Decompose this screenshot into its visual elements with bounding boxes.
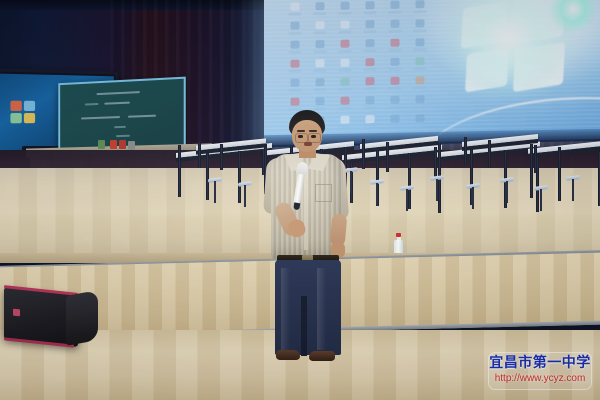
stage-monitor-speaker <box>4 285 100 347</box>
blackboard-writing <box>97 91 140 95</box>
mouth <box>304 142 312 146</box>
trouser-highlight-right <box>317 268 326 350</box>
desktop-icon <box>282 38 307 57</box>
desktop-icon <box>332 37 357 56</box>
bench-jar <box>128 141 135 150</box>
shirt-pocket <box>315 184 332 202</box>
desktop-icon <box>282 19 307 38</box>
bench-jar <box>98 140 105 149</box>
desktop-icon <box>382 18 407 37</box>
watermark-url: http://www.ycyz.com <box>489 372 591 385</box>
desktop-icon <box>282 0 307 19</box>
desktop-icon <box>307 0 332 19</box>
desktop-icon <box>332 75 357 94</box>
speaker-grille <box>66 290 98 346</box>
projector-glare <box>434 0 584 98</box>
trouser-highlight-left <box>281 268 290 350</box>
desktop-icon <box>357 56 382 75</box>
school-watermark: 宜昌市第一中学 http://www.ycyz.com <box>488 352 592 390</box>
blackboard-writing <box>104 102 130 105</box>
windows-flag-icon <box>10 101 37 126</box>
desktop-icon <box>332 18 357 37</box>
desktop-icon <box>382 0 407 18</box>
desktop-icon <box>407 93 432 112</box>
face <box>292 120 322 152</box>
desktop-icon <box>407 36 432 55</box>
bench-jar <box>119 140 126 149</box>
desktop-icon <box>307 57 332 76</box>
bench-jar <box>110 140 117 149</box>
desktop-icon <box>332 0 357 19</box>
blackboard-writing <box>81 116 120 119</box>
desktop-icon <box>357 75 382 94</box>
desktop-icon <box>307 38 332 57</box>
desktop-icon <box>357 37 382 56</box>
blackboard-writing <box>116 135 130 137</box>
desktop-icon <box>382 37 407 56</box>
speaker <box>265 110 360 365</box>
blackboard-writing <box>85 103 99 105</box>
desktop-icon <box>407 55 432 74</box>
auditorium-photo: 宜昌市第一中学 http://www.ycyz.com <box>0 0 600 400</box>
desktop-icon <box>282 57 307 76</box>
blackboard-writing <box>128 115 156 118</box>
shoe-right <box>309 351 335 361</box>
desktop-icon <box>407 0 432 18</box>
desktop-icon <box>307 19 332 38</box>
desktop-icon <box>357 0 382 18</box>
desktop-icon <box>357 18 382 37</box>
desktop-icon <box>282 76 307 95</box>
trouser-inseam <box>301 296 307 356</box>
desktop-icon <box>357 113 382 132</box>
desktop-icon <box>332 56 357 75</box>
desktop-icon <box>307 76 332 95</box>
shoe-left <box>276 350 300 360</box>
desktop-icon <box>382 94 407 113</box>
desktop-icon <box>357 94 382 113</box>
speaker-badge <box>13 309 20 317</box>
desktop-icon <box>382 56 407 75</box>
desktop-icon <box>382 113 407 132</box>
microphone-tip <box>293 202 300 210</box>
desktop-icon <box>407 17 432 36</box>
desktop-icon <box>382 75 407 94</box>
desktop-icon <box>407 112 432 131</box>
blackboard-writing <box>114 126 126 128</box>
desktop-icon <box>407 74 432 93</box>
watermark-school-name: 宜昌市第一中学 <box>489 355 591 372</box>
